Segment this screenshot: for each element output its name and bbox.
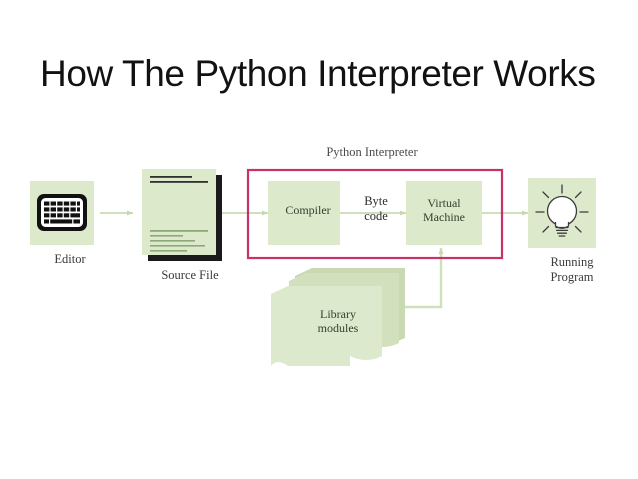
- node-running-program: [528, 178, 596, 248]
- byte-code-edge-label: Byte code: [352, 194, 400, 224]
- node-editor: [30, 181, 94, 245]
- virtual-machine-label: Virtual Machine: [403, 196, 485, 224]
- diagram-canvas: [0, 0, 638, 479]
- running-program-label: Running Program: [522, 255, 622, 285]
- python-interpreter-flow-diagram: Editor Source File Python Interpreter Co…: [0, 0, 638, 479]
- library-modules-label: Library modules: [288, 307, 388, 335]
- editor-label: Editor: [20, 252, 120, 267]
- keyboard-icon: [37, 194, 87, 231]
- compiler-label: Compiler: [266, 203, 350, 217]
- python-interpreter-group-label: Python Interpreter: [288, 145, 456, 160]
- source-file-label: Source File: [126, 268, 254, 283]
- node-source-file: [142, 169, 222, 261]
